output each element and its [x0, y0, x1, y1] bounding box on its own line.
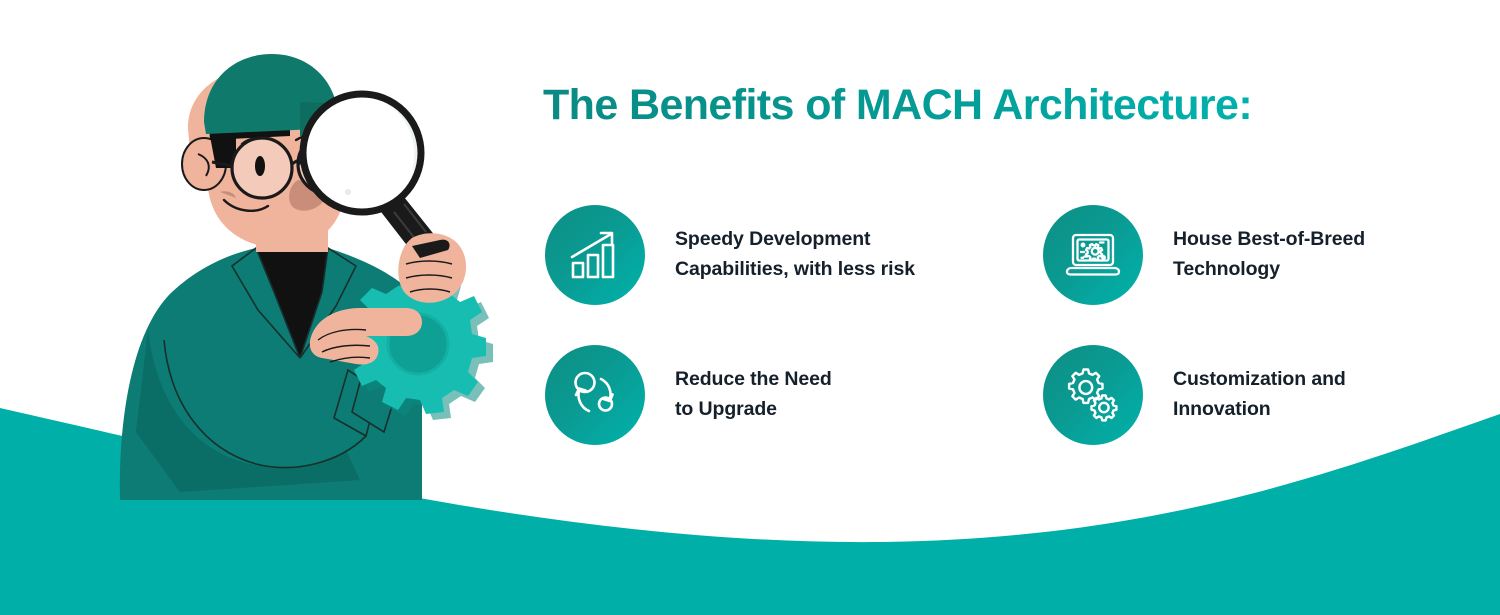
benefit-label: Customization and Innovation: [1173, 365, 1346, 424]
benefits-grid: Speedy Development Capabilities, with le…: [545, 185, 1465, 465]
benefit-item-customization-and-innovation: Customization and Innovation: [1043, 325, 1463, 465]
page-title: The Benefits of MACH Architecture:: [543, 82, 1443, 129]
growth-bar-chart-icon: [567, 227, 623, 283]
infographic-canvas: The Benefits of MACH Architecture: Speed…: [0, 0, 1500, 615]
refresh-cycle-icon-circle: [545, 345, 645, 445]
two-gears-icon-circle: [1043, 345, 1143, 445]
laptop-gear-icon: [1064, 226, 1122, 284]
benefit-item-speedy-development: Speedy Development Capabilities, with le…: [545, 185, 1043, 325]
benefit-label: Reduce the Need to Upgrade: [675, 365, 832, 424]
man-with-magnifying-glass-illustration: [60, 40, 520, 500]
benefit-item-reduce-need-to-upgrade: Reduce the Need to Upgrade: [545, 325, 1043, 465]
laptop-gear-icon-circle: [1043, 205, 1143, 305]
two-gears-icon: [1064, 366, 1122, 424]
growth-bar-chart-icon-circle: [545, 205, 645, 305]
refresh-cycle-icon: [567, 367, 623, 423]
benefit-item-best-of-breed-technology: House Best-of-Breed Technology: [1043, 185, 1463, 325]
benefit-label: House Best-of-Breed Technology: [1173, 225, 1365, 284]
benefit-label: Speedy Development Capabilities, with le…: [675, 225, 915, 284]
